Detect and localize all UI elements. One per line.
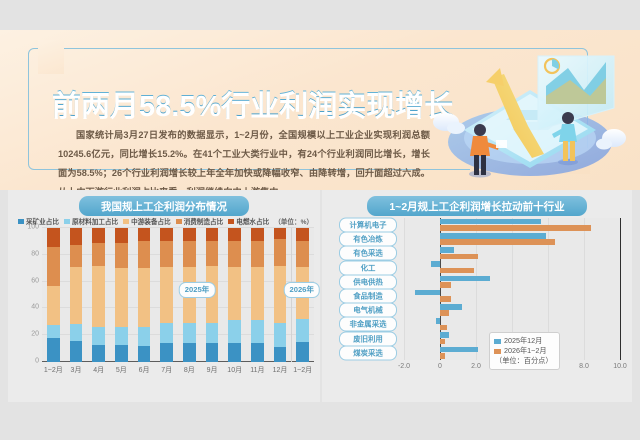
legend-unit: （单位：百分点） [494,356,553,366]
bar-segment [228,241,241,266]
category-label: 有色冶炼 [339,232,397,247]
left-chart-plot: 0204060801001~2月3月4月5月6月7月8月9月10月11月12月1… [16,226,316,378]
gridline: 10.0 [620,218,621,360]
bar-segment [228,267,241,321]
horizontal-bar [440,225,591,231]
bar-segment [115,327,128,344]
x-axis-tick-label: 6月 [139,365,150,375]
bar-group: 1~2月3月4月5月6月7月8月9月10月11月12月1~2月 [42,228,314,362]
bar-column[interactable]: 6月 [133,228,156,362]
bar-row[interactable]: 计算机电子 [404,218,620,232]
stacked-bar[interactable] [92,228,105,362]
bar-segment [274,239,287,266]
bar-segment [160,241,173,266]
stacked-bar[interactable] [138,228,151,362]
horizontal-bar [415,290,440,296]
bar-segment [70,267,83,325]
bar-segment [92,228,105,243]
bar-segment [70,245,83,266]
hero-banner: 前两月58.5%行业利润实现增长 国家统计局3月27日发布的数据显示，1~2月份… [0,30,640,190]
x-axis-tick-label: 12月 [273,365,288,375]
legend-swatch-icon [18,219,24,224]
legend-item: 中游装备占比 [123,216,171,226]
bar-row[interactable]: 有色采选 [404,246,620,260]
horizontal-bar [440,310,449,316]
horizontal-bar [440,239,555,245]
bar-segment [183,343,196,362]
annotation-year-2026: 2026年 [284,282,321,298]
stacked-bar[interactable] [70,228,83,362]
bar-segment [70,324,83,340]
isometric-dashboard-illustration [418,34,638,186]
bar-segment [274,347,287,362]
bar-column[interactable]: 3月 [65,228,88,362]
bar-segment [115,228,128,243]
legend-item: 电燃水占比 [228,216,269,226]
bar-segment [183,228,196,241]
legend-label: 电燃水占比 [236,216,269,226]
bar-segment [296,228,309,241]
horizontal-bar [440,254,478,260]
horizontal-bar [440,339,445,345]
legend-swatch-icon [494,349,501,354]
y-axis-tick-label: 80 [31,250,39,257]
left-panel-title-wrap: 我国规上工企利润分布情况 [8,196,320,216]
bar-segment [251,241,264,266]
bar-segment [296,319,309,342]
bar-segment [115,268,128,327]
bar-column[interactable]: 10月 [223,228,246,362]
right-panel-title-wrap: 1~2月规上工企利润增长拉动前十行业 [322,196,632,216]
bar-segment [92,345,105,362]
bar-segment [160,343,173,362]
annotation-year-2025: 2025年 [179,282,216,298]
bar-segment [206,343,219,362]
bar-segment [115,345,128,362]
bar-segment [47,228,60,247]
bar-segment [183,323,196,343]
bar-row[interactable]: 电气机械 [404,303,620,317]
bar-segment [92,266,105,328]
left-panel-title: 我国规上工企利润分布情况 [79,196,249,216]
bar-segment [138,346,151,362]
x-axis-tick-label: 4月 [93,365,104,375]
horizontal-bar [440,325,447,331]
bar-row[interactable]: 有色冶炼 [404,232,620,246]
bar-row[interactable]: 化工 [404,261,620,275]
legend-label: 2025年12月 [504,336,542,346]
bar-segment [160,323,173,343]
bar-column[interactable]: 11月 [246,228,269,362]
article-paragraph: 国家统计局3月27日发布的数据显示，1~2月份，全国规模以上工业企业实现利润总额… [58,126,430,190]
horizontal-bar [440,276,490,282]
category-label: 食品制造 [339,289,397,304]
bar-segment [92,243,105,266]
legend-item: 消费制造占比 [176,216,224,226]
x-axis-tick-label: -2.0 [398,363,410,370]
left-plot-area: 0204060801001~2月3月4月5月6月7月8月9月10月11月12月1… [42,228,314,362]
left-chart-legend: 采矿业占比原材料加工占比中游装备占比消费制造占比电燃水占比（单位：%） [18,216,318,226]
bar-segment [47,247,60,286]
bar-row[interactable]: 食品制造 [404,289,620,303]
y-axis-tick-label: 0 [35,358,39,365]
bar-column[interactable]: 4月 [87,228,110,362]
legend-item: 2025年12月 [494,336,553,346]
y-axis-tick-label: 60 [31,277,39,284]
x-axis-tick-label: 0 [438,363,442,370]
bar-segment [138,228,151,241]
y-axis-tick-label: 20 [31,331,39,338]
bar-segment [251,343,264,362]
legend-label: 中游装备占比 [131,216,171,226]
page-title: 前两月58.5%行业利润实现增长 [52,82,453,124]
bar-segment [228,320,241,343]
x-axis-tick-label: 5月 [116,365,127,375]
category-label: 废旧利用 [339,331,397,346]
bar-segment [296,342,309,362]
horizontal-bar [431,261,440,267]
x-axis-tick-label: 11月 [250,365,264,375]
horizontal-bar [440,296,451,302]
legend-item: 2026年1~2月 [494,346,553,356]
category-label: 有色采选 [339,246,397,261]
stacked-bar[interactable] [47,228,60,362]
horizontal-bar [440,233,546,239]
category-label: 供电供热 [339,274,397,289]
x-axis-tick-label: 10月 [227,365,242,375]
stacked-bar[interactable] [251,228,264,362]
horizontal-bar [436,318,440,324]
horizontal-bar [440,332,449,338]
bar-segment [138,327,151,346]
legend-swatch-icon [176,219,182,224]
right-chart-legend: 2025年12月2026年1~2月（单位：百分点） [489,332,560,370]
bar-segment [206,323,219,343]
bar-segment [274,323,287,347]
bar-segment [92,327,105,344]
x-axis-tick-label: 1~2月 [44,365,63,375]
bar-row[interactable]: 非金属采选 [404,317,620,331]
legend-swatch-icon [64,219,70,224]
category-label: 非金属采选 [339,317,397,332]
x-axis-tick-label: 8.0 [579,363,589,370]
legend-label: 2026年1~2月 [504,346,547,356]
legend-unit: （单位：%） [274,216,313,226]
y-axis-tick-label: 100 [27,224,39,231]
legend-swatch-icon [494,339,501,344]
bar-column[interactable]: 7月 [155,228,178,362]
stacked-bar[interactable] [115,228,128,362]
horizontal-bar [440,353,445,359]
bar-column[interactable]: 1~2月 [42,228,65,362]
frame-gap-left [38,40,64,74]
x-axis-tick-label: 10.0 [613,363,627,370]
bar-segment [274,228,287,239]
bar-segment [296,241,309,266]
category-label: 计算机电子 [339,218,397,233]
x-axis-tick-label: 1~2月 [293,365,312,375]
category-label: 煤炭采选 [339,345,397,360]
footer-strip [0,430,640,440]
x-axis-tick-label: 8月 [184,365,195,375]
legend-item: 原材料加工占比 [64,216,118,226]
bar-segment [251,267,264,321]
horizontal-bar [440,304,462,310]
y-axis-tick-label: 40 [31,304,39,311]
bar-segment [206,241,219,265]
bar-segment [160,267,173,323]
horizontal-bar [440,219,541,225]
horizontal-bar [440,268,474,274]
stacked-bar[interactable] [228,228,241,362]
bar-segment [70,228,83,245]
right-panel-title: 1~2月规上工企利润增长拉动前十行业 [367,196,586,216]
bar-segment [251,228,264,241]
left-chart-panel: 我国规上工企利润分布情况 采矿业占比原材料加工占比中游装备占比消费制造占比电燃水… [8,190,320,402]
bar-segment [70,341,83,362]
stacked-bar[interactable] [160,228,173,362]
category-label: 电气机械 [339,303,397,318]
bar-segment [47,338,60,362]
bar-segment [228,343,241,362]
infographic-page: 前两月58.5%行业利润实现增长 国家统计局3月27日发布的数据显示，1~2月份… [0,0,640,440]
bar-segment [47,325,60,338]
legend-swatch-icon [123,219,129,224]
x-axis-tick-label: 7月 [161,365,172,375]
legend-label: 原材料加工占比 [72,216,118,226]
horizontal-bar [440,247,454,253]
bar-segment [47,286,60,325]
horizontal-bar [440,282,451,288]
legend-label: 消费制造占比 [184,216,224,226]
category-label: 化工 [339,260,397,275]
x-axis-tick-label: 3月 [71,365,82,375]
legend-swatch-icon [228,219,234,224]
bar-segment [183,241,196,266]
x-axis-tick-label: 9月 [207,365,218,375]
bar-segment [160,228,173,241]
bar-segment [138,241,151,268]
bar-segment [251,320,264,343]
right-chart-plot: -2.002.04.06.08.010.0计算机电子有色冶炼有色采选化工供电供热… [326,218,628,376]
bar-segment [228,228,241,241]
bar-column[interactable]: 5月 [110,228,133,362]
article-body: 国家统计局3月27日发布的数据显示，1~2月份，全国规模以上工业企业实现利润总额… [58,126,430,190]
bar-row[interactable]: 供电供热 [404,275,620,289]
horizontal-bar [440,347,478,353]
x-axis-tick-label: 2.0 [471,363,481,370]
bar-segment [115,243,128,268]
bar-segment [138,268,151,327]
bar-segment [206,228,219,241]
right-chart-panel: 1~2月规上工企利润增长拉动前十行业 -2.002.04.06.08.010.0… [322,190,632,402]
